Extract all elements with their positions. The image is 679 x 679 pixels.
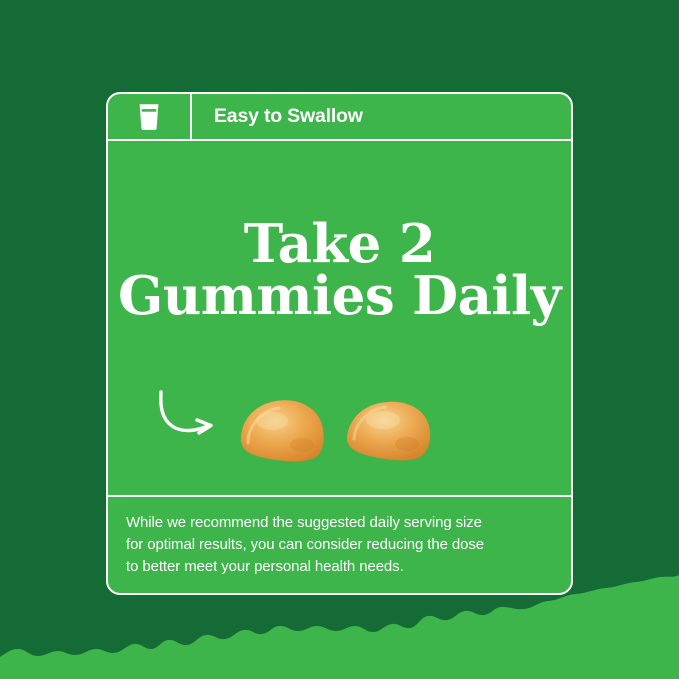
header-icon-cell	[108, 94, 192, 139]
disclaimer-text: While we recommend the suggested daily s…	[126, 512, 484, 577]
gummy-1	[236, 393, 328, 469]
drinking-glass-icon	[138, 103, 160, 130]
curved-arrow-icon	[156, 389, 228, 441]
gummies-row	[108, 381, 571, 491]
headline-text: Take 2 Gummies Daily	[118, 219, 561, 323]
card-header: Easy to Swallow	[108, 94, 571, 141]
card-header-title: Easy to Swallow	[214, 105, 363, 128]
header-title-cell: Easy to Swallow	[192, 94, 571, 139]
card-body: Take 2 Gummies Daily	[108, 141, 571, 497]
gummy-2	[343, 393, 435, 469]
info-card: Easy to Swallow Take 2 Gummies Daily	[106, 92, 573, 595]
card-footer: While we recommend the suggested daily s…	[108, 497, 571, 593]
product-infographic: Easy to Swallow Take 2 Gummies Daily	[0, 0, 679, 679]
